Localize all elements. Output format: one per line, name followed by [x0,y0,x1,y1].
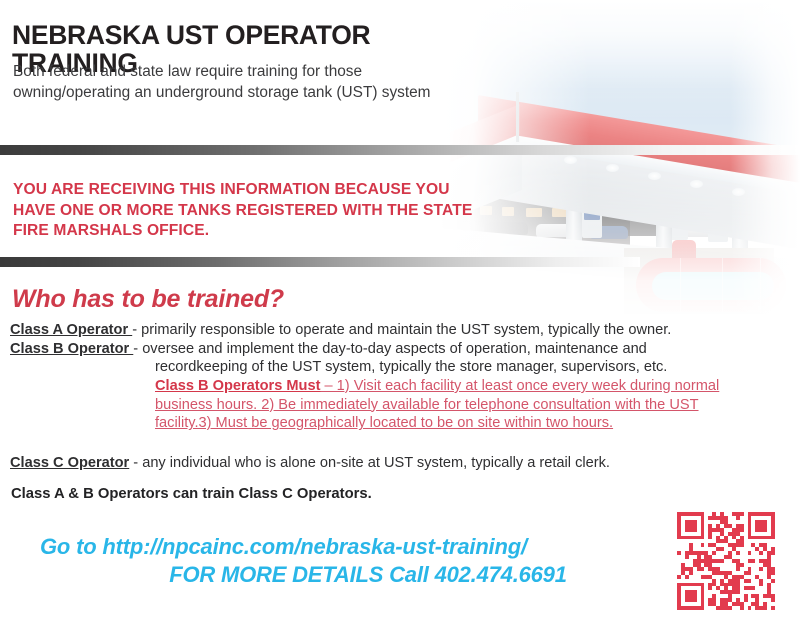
class-b-must-line-2: business hours. 2) Be immediately availa… [10,396,792,415]
phone-line: FOR MORE DETAILS Call 402.474.6691 [40,561,660,589]
divider-bar-middle [0,257,640,267]
class-b-must-label: Class B Operators Must [155,378,320,394]
operator-definitions: Class A Operator - primarily responsible… [10,321,792,433]
section-heading: Who has to be trained? [12,285,284,314]
call-to-action: Go to http://npcainc.com/nebraska-ust-tr… [40,533,660,589]
train-class-c-note: Class A & B Operators can train Class C … [11,486,372,502]
class-b-must-line-1: Class B Operators Must – 1) Visit each f… [10,377,792,396]
class-b-label: Class B Operator [10,341,133,357]
class-a-line: Class A Operator - primarily responsible… [10,321,792,340]
gas-station-photo [440,0,800,320]
notice-text: YOU ARE RECEIVING THIS INFORMATION BECAU… [13,180,483,242]
qr-code[interactable] [677,512,775,610]
class-a-description: - primarily responsible to operate and m… [132,322,671,338]
class-c-description: - any individual who is alone on-site at… [129,455,610,471]
class-a-label: Class A Operator [10,322,132,338]
class-b-must-text-1: – 1) Visit each facility at least once e… [320,378,719,394]
class-b-description-cont: recordkeeping of the UST system, typical… [10,358,792,377]
class-b-description: - oversee and implement the day-to-day a… [133,341,647,357]
class-b-must-line-3: facility.3) Must be geographically locat… [10,414,792,433]
class-c-line: Class C Operator - any individual who is… [10,455,610,471]
training-url[interactable]: Go to http://npcainc.com/nebraska-ust-tr… [40,533,660,561]
class-b-line: Class B Operator - oversee and implement… [10,340,792,359]
photo-fade-right [730,0,800,320]
class-c-label: Class C Operator [10,455,129,471]
page-subtitle: Both federal and state law require train… [13,62,438,103]
divider-bar-top [0,145,800,155]
flyer-page: NEBRASKA UST OPERATOR TRAINING Both fede… [0,0,800,618]
